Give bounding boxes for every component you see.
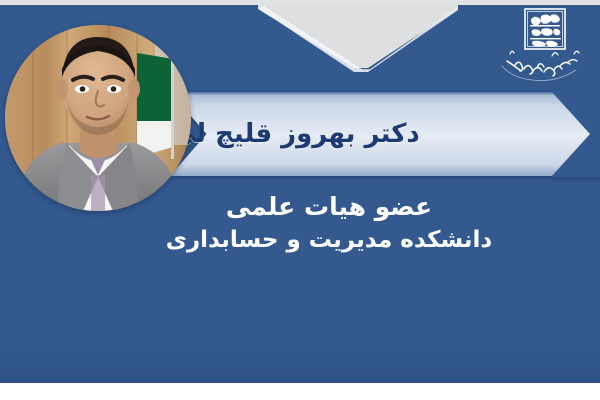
name-ribbon: دکتر بهروز قلیچ لی xyxy=(170,92,600,176)
portrait-photo xyxy=(5,25,191,211)
shahid-beheshti-university-logo-icon xyxy=(496,6,588,84)
person-role: عضو هیات علمی xyxy=(150,190,508,224)
top-light-strip xyxy=(0,0,600,5)
profile-card: دکتر بهروز قلیچ لی عضو هیات علمی دانشکده… xyxy=(0,0,600,383)
card-bottom-shading xyxy=(0,343,600,383)
chevron-down-notch-icon xyxy=(258,4,458,68)
person-title-block: عضو هیات علمی دانشکده مدیریت و حسابداری xyxy=(150,190,508,256)
person-name: دکتر بهروز قلیچ لی xyxy=(170,92,544,176)
person-faculty: دانشکده مدیریت و حسابداری xyxy=(150,224,508,256)
